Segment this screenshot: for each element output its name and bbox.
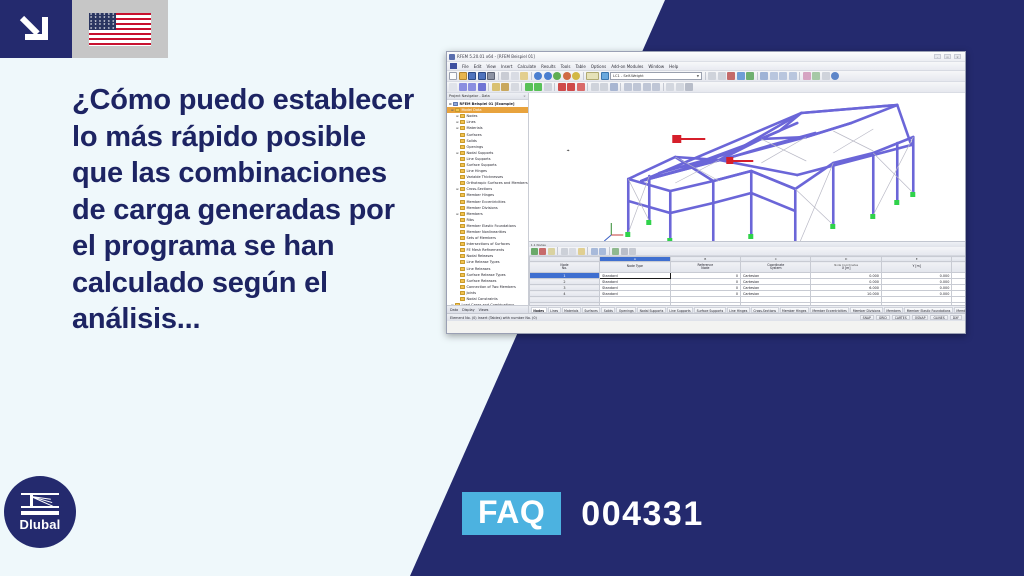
arrow-glyph <box>21 14 51 44</box>
grid-header-x-m: Node CoordinatesX [m] <box>811 262 881 273</box>
tree-item-label: RFEM Beispiel 01 [Example] <box>460 102 515 106</box>
table-delete-row-icon[interactable] <box>539 248 546 255</box>
osnap-toggle-icon[interactable] <box>746 72 754 80</box>
folder-icon <box>460 163 465 167</box>
tree-item-label: Line Hinges <box>467 169 487 173</box>
chevron-down-icon[interactable]: ▼ <box>697 74 699 78</box>
tree-item-label: Joints <box>467 291 477 295</box>
status-indicator-grid[interactable]: GRID <box>876 315 890 321</box>
sheet-tab-line-hinges[interactable]: Line Hinges <box>727 307 750 313</box>
sheet-tab-nodal-supports[interactable]: Nodal Supports <box>637 307 666 313</box>
rotate-tool-icon[interactable] <box>633 83 641 91</box>
tree-item-label: Line Releases <box>467 267 491 271</box>
results-display-icon[interactable] <box>803 72 811 80</box>
view-xz-icon[interactable] <box>779 72 787 80</box>
sheet-tab-surface-supports[interactable]: Surface Supports <box>694 307 726 313</box>
folder-icon <box>460 291 465 295</box>
tree-item-label: Nodal Constraints <box>467 297 498 301</box>
folder-icon <box>460 218 465 222</box>
menu-item-table[interactable]: Table <box>575 64 585 69</box>
nodal-support-tool-icon[interactable] <box>525 83 533 91</box>
nav-next-icon[interactable] <box>718 72 726 80</box>
navigator-header: Project Navigator - Data × <box>447 93 528 100</box>
close-button[interactable]: × <box>954 54 961 59</box>
folder-icon <box>460 260 465 264</box>
table-paste-icon[interactable] <box>578 248 585 255</box>
tree-item-label: Variable Thicknesses <box>467 175 504 179</box>
settings-gear-icon[interactable] <box>685 83 693 91</box>
folder-icon <box>460 224 465 228</box>
load-case-value: LC1 - Self-Weight <box>613 74 644 78</box>
tree-item-label: Model Data <box>462 108 482 112</box>
table-new-row-icon[interactable] <box>531 248 538 255</box>
table-export-icon[interactable] <box>612 248 619 255</box>
folder-icon <box>460 145 465 149</box>
redo-icon[interactable] <box>544 72 552 80</box>
new-file-icon[interactable] <box>449 72 457 80</box>
printout-report-icon[interactable] <box>822 72 830 80</box>
snap-toggle-icon[interactable] <box>737 72 745 80</box>
tree-item-label: Orthotropic Surfaces and Members <box>467 181 528 185</box>
member-load-tool-icon[interactable] <box>567 83 575 91</box>
folder-icon <box>460 193 465 197</box>
grid-header-y-m: Y [m] <box>881 262 951 273</box>
tree-item-label: Sets of Members <box>467 236 496 240</box>
status-indicator-cartes[interactable]: CARTES <box>892 315 910 321</box>
mouse-cursor-icon: ⌖ <box>567 148 570 154</box>
calculate-icon[interactable] <box>601 72 609 80</box>
folder-icon <box>460 114 465 118</box>
menu-item-results[interactable]: Results <box>541 64 555 69</box>
menu-item-file[interactable]: File <box>462 64 469 69</box>
tree-item-label: Surfaces <box>467 133 482 137</box>
tree-item-label: Connection of Two Members <box>467 285 516 289</box>
navigator-tab-display[interactable]: Display <box>462 308 475 312</box>
sheet-tab-line-supports[interactable]: Line Supports <box>667 307 693 313</box>
tree-item-label: Openings <box>467 145 484 149</box>
grid-toggle-icon[interactable] <box>727 72 735 80</box>
rfem-application-window[interactable]: RFEM 5.20.01 x64 - [RFEM Beispiel 01] – … <box>446 51 966 334</box>
structure-3d-model[interactable] <box>529 93 966 241</box>
page-title: ¿Cómo puedo establecer lo más rápido pos… <box>72 82 422 338</box>
print-icon[interactable] <box>487 72 495 80</box>
faq-badge: FAQ <box>462 492 561 535</box>
tree-item-label: Materials <box>467 126 483 130</box>
undo-icon[interactable] <box>534 72 542 80</box>
folder-icon <box>460 212 465 216</box>
menu-item-tools[interactable]: Tools <box>561 64 571 69</box>
tree-item-label: Surface Release Types <box>467 273 506 277</box>
surface-tool-icon[interactable] <box>492 83 500 91</box>
sheet-tab-nodes[interactable]: Nodes <box>531 307 547 313</box>
folder-icon <box>460 175 465 179</box>
opening-tool-icon[interactable] <box>511 83 519 91</box>
folder-icon <box>460 151 465 155</box>
grid-header-node-no: NodeNo. <box>529 262 599 273</box>
faq-number: 004331 <box>581 497 703 531</box>
menu-item-view[interactable]: View <box>486 64 496 69</box>
tree-item-label: Ribs <box>467 218 474 222</box>
status-indicator-snap[interactable]: SNAP <box>860 315 874 321</box>
sheet-tab-member-nonlinearities[interactable]: Member Nonlinearities <box>954 307 966 313</box>
grid-header-z-m: Z [m] <box>952 262 966 273</box>
open-file-icon[interactable] <box>459 72 467 80</box>
load-case-select[interactable]: LC1 - Self-Weight ▼ <box>610 72 702 80</box>
maximize-button[interactable]: ▫ <box>944 54 951 59</box>
model-viewport[interactable]: ⌖ <box>529 93 966 241</box>
copy-object-icon[interactable] <box>643 83 651 91</box>
folder-icon <box>460 236 465 240</box>
tree-item-label: Member Nonlinearities <box>467 230 507 234</box>
folder-icon <box>460 297 465 301</box>
select-tool-icon[interactable] <box>449 83 457 91</box>
table-print-icon[interactable] <box>621 248 628 255</box>
menu-item-addons[interactable]: Add-on Modules <box>611 64 643 69</box>
zoom-out-icon[interactable] <box>563 72 571 80</box>
status-indicator-dxf[interactable]: DXF <box>950 315 962 321</box>
table-toolbar[interactable] <box>529 247 966 256</box>
deformation-icon[interactable] <box>812 72 820 80</box>
table-panel[interactable]: 1.1 Nodes <box>529 241 966 313</box>
nodal-load-tool-icon[interactable] <box>558 83 566 91</box>
dlubal-logo-text: Dlubal <box>20 517 61 532</box>
zoom-in-icon[interactable] <box>553 72 561 80</box>
nav-prev-icon[interactable] <box>708 72 716 80</box>
solid-tool-icon[interactable] <box>501 83 509 91</box>
window-titlebar: RFEM 5.20.01 x64 - [RFEM Beispiel 01] – … <box>447 52 965 62</box>
visibility-icon[interactable] <box>666 83 674 91</box>
menu-bar[interactable]: File Edit View Insert Calculate Results … <box>447 62 965 71</box>
folder-icon <box>460 230 465 234</box>
language-flag-badge[interactable]: ★★★★★★ ★★★★★★ ★★★★★★ ★★★★★★ ★★★★★★ <box>72 0 168 58</box>
tree-item-label: Nodes <box>467 114 478 118</box>
cut-icon[interactable] <box>501 72 509 80</box>
navigator-tabs[interactable]: Data Display Views <box>447 305 528 313</box>
tree-item-label: Surface Releases <box>467 279 497 283</box>
navigator-title: Project Navigator - Data <box>449 94 490 98</box>
folder-icon <box>460 206 465 210</box>
table-cut-icon[interactable] <box>561 248 568 255</box>
zoom-fit-icon[interactable] <box>572 72 580 80</box>
tree-item-label: Nodal Releases <box>467 254 494 258</box>
mirror-tool-icon[interactable] <box>624 83 632 91</box>
folder-icon <box>460 242 465 246</box>
paste-icon[interactable] <box>520 72 528 80</box>
model-data-tree[interactable]: ⊞RFEM Beispiel 01 [Example]⊞Model Data⊞N… <box>447 100 528 305</box>
status-message: Element No. (0) Insert (Tables) with num… <box>450 316 537 320</box>
folder-icon <box>460 139 465 143</box>
menu-item-window[interactable]: Window <box>648 64 664 69</box>
folder-icon <box>460 200 465 204</box>
sheet-tab-member-hinges[interactable]: Member Hinges <box>780 307 809 313</box>
tree-item-label: Line Supports <box>467 157 491 161</box>
folder-icon <box>460 169 465 173</box>
dlubal-logo[interactable]: Dlubal <box>4 476 76 548</box>
help-icon[interactable] <box>831 72 839 80</box>
tree-item-label: Cross-Sections <box>467 187 493 191</box>
sheet-tab-member-eccentricities[interactable]: Member Eccentricities <box>810 307 849 313</box>
sheet-tab-materials[interactable]: Materials <box>562 307 581 313</box>
tree-item-label: Intersections of Surfaces <box>467 242 510 246</box>
minimize-button[interactable]: – <box>934 54 941 59</box>
node-tool-icon[interactable] <box>459 83 467 91</box>
tree-item-label: Surface Supports <box>467 163 497 167</box>
line-support-tool-icon[interactable] <box>534 83 542 91</box>
folder-icon <box>460 248 465 252</box>
faq-footer: FAQ 004331 <box>462 492 704 535</box>
navigator-tab-data[interactable]: Data <box>450 308 458 312</box>
folder-icon <box>453 102 458 106</box>
copy-icon[interactable] <box>511 72 519 80</box>
grid-header-reference-node: ReferenceNode <box>670 262 740 273</box>
menu-item-calculate[interactable]: Calculate <box>517 64 536 69</box>
status-indicator-glines[interactable]: GLINES <box>930 315 947 321</box>
tree-item-label: Member Elastic Foundations <box>467 224 516 228</box>
close-icon[interactable]: × <box>523 94 526 98</box>
grid-header-node-type: Node Type <box>600 262 670 273</box>
folder-icon <box>460 181 465 185</box>
tree-item-label: Nodal Supports <box>467 151 494 155</box>
folder-icon <box>460 273 465 277</box>
menu-app-icon <box>450 63 457 69</box>
sheet-tab-members[interactable]: Members <box>884 307 903 313</box>
status-bar: Element No. (0) Insert (Tables) with num… <box>447 313 965 321</box>
menu-item-help[interactable]: Help <box>669 64 678 69</box>
folder-icon <box>460 254 465 258</box>
save-all-icon[interactable] <box>478 72 486 80</box>
view-yz-icon[interactable] <box>789 72 797 80</box>
menu-item-edit[interactable]: Edit <box>474 64 482 69</box>
slide-canvas: ★★★★★★ ★★★★★★ ★★★★★★ ★★★★★★ ★★★★★★ ¿Cómo… <box>0 0 1024 576</box>
app-icon <box>449 54 455 60</box>
status-indicator-osnap[interactable]: OSNAP <box>912 315 929 321</box>
member-tool-icon[interactable] <box>478 83 486 91</box>
navigator-tab-views[interactable]: Views <box>479 308 489 312</box>
sheet-tab-surfaces[interactable]: Surfaces <box>582 307 600 313</box>
tree-item-label: FE Mesh Refinements <box>467 248 505 252</box>
tree-item-label: Solids <box>467 139 477 143</box>
us-flag-icon: ★★★★★★ ★★★★★★ ★★★★★★ ★★★★★★ ★★★★★★ <box>89 13 151 46</box>
table-sheet-tabs[interactable]: NodesLinesMaterialsSurfacesSolidsOpening… <box>529 305 966 313</box>
dlubal-truss-icon <box>21 493 59 515</box>
view-iso-icon[interactable] <box>760 72 768 80</box>
grid-header-coordinate-system: CoordinateSystem <box>741 262 811 273</box>
render-mode-icon[interactable] <box>586 72 599 80</box>
sheet-tab-cross-sections[interactable]: Cross-Sections <box>751 307 779 313</box>
folder-icon <box>460 279 465 283</box>
line-tool-icon[interactable] <box>468 83 476 91</box>
flag-canton: ★★★★★★ ★★★★★★ ★★★★★★ ★★★★★★ ★★★★★★ <box>89 13 116 31</box>
sheet-tab-member-elastic-foundations[interactable]: Member Elastic Foundations <box>904 307 953 313</box>
secondary-toolbar[interactable] <box>447 82 965 93</box>
nodes-data-grid[interactable]: ABCDEFGNodeNo.Node TypeReferenceNodeCoor… <box>529 256 966 305</box>
folder-icon <box>460 133 465 137</box>
save-icon[interactable] <box>468 72 476 80</box>
sheet-tab-member-divisions[interactable]: Member Divisions <box>850 307 883 313</box>
window-title: RFEM 5.20.01 x64 - [RFEM Beispiel 01] <box>457 54 535 59</box>
folder-icon <box>460 157 465 161</box>
folder-icon <box>460 285 465 289</box>
dimension-tool-icon[interactable] <box>591 83 599 91</box>
table-filter-icon[interactable] <box>591 248 598 255</box>
workspace: Project Navigator - Data × ⊞RFEM Beispie… <box>447 93 965 313</box>
tree-item-label: Member Hinges <box>467 193 495 197</box>
menu-item-options[interactable]: Options <box>591 64 606 69</box>
sheet-tab-lines[interactable]: Lines <box>548 307 561 313</box>
move-object-icon[interactable] <box>652 83 660 91</box>
tree-item-label: Member Eccentricities <box>467 200 506 204</box>
main-toolbar[interactable]: LC1 - Self-Weight ▼ <box>447 71 965 82</box>
project-navigator-panel[interactable]: Project Navigator - Data × ⊞RFEM Beispie… <box>447 93 529 313</box>
menu-item-insert[interactable]: Insert <box>501 64 512 69</box>
tree-item-label: Member Divisions <box>467 206 498 210</box>
arrow-down-right-icon <box>0 0 72 58</box>
window-controls[interactable]: – ▫ × <box>934 54 963 59</box>
status-indicators[interactable]: SNAPGRIDCARTESOSNAPGLINESDXF <box>860 315 962 321</box>
tree-item-label: Line Release Types <box>467 260 500 264</box>
sheet-tab-openings[interactable]: Openings <box>616 307 636 313</box>
view-xy-icon[interactable] <box>770 72 778 80</box>
surface-load-tool-icon[interactable] <box>577 83 585 91</box>
folder-icon <box>460 187 465 191</box>
tree-item-label: Members <box>467 212 483 216</box>
table-settings-icon[interactable] <box>629 248 636 255</box>
folder-icon <box>460 267 465 271</box>
tree-item-label: Lines <box>467 120 476 124</box>
table-sort-icon[interactable] <box>599 248 606 255</box>
table-copy-icon[interactable] <box>569 248 576 255</box>
folder-icon <box>455 108 460 112</box>
measure-tool-icon[interactable] <box>600 83 608 91</box>
layers-icon[interactable] <box>676 83 684 91</box>
sheet-tab-solids[interactable]: Solids <box>601 307 615 313</box>
table-edit-icon[interactable] <box>548 248 555 255</box>
mesh-tool-icon[interactable] <box>610 83 618 91</box>
folder-icon <box>460 126 465 130</box>
folder-icon <box>460 120 465 124</box>
right-pane: ⌖ 1.1 Nodes <box>529 93 966 313</box>
hinge-tool-icon[interactable] <box>544 83 552 91</box>
